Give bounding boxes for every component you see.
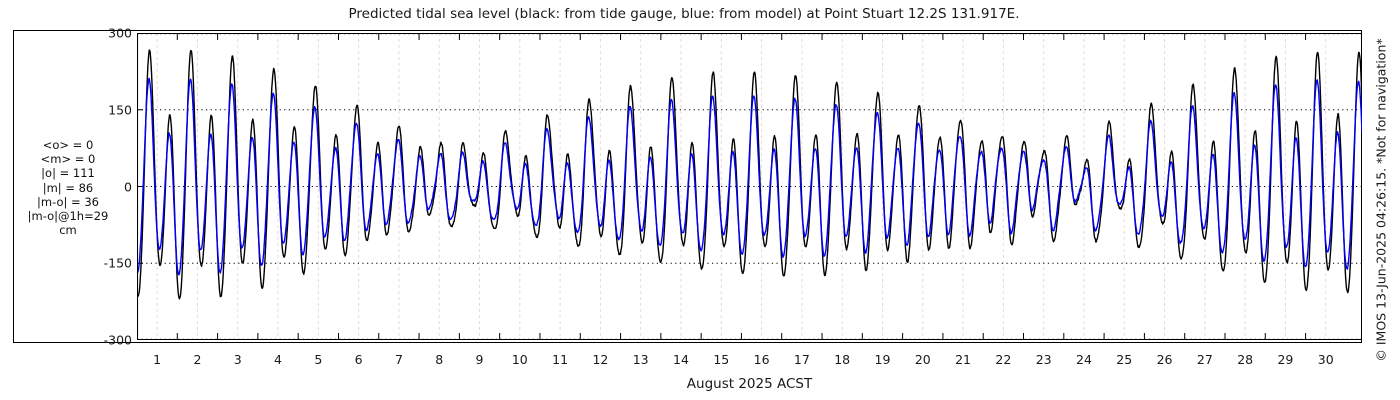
x-axis-tick-label: 27	[1197, 352, 1213, 367]
y-axis-tick-label: -300	[80, 333, 132, 348]
stat-mean-obs: <o> = 0	[8, 138, 128, 152]
stat-abs-diff-1h: |m-o|@1h=29	[8, 209, 128, 223]
x-axis-tick-label: 1	[153, 352, 161, 367]
page-title: Predicted tidal sea level (black: from t…	[0, 6, 1368, 22]
copyright-text: © IMOS 13-Jun-2025 04:26:15. *Not for na…	[1374, 38, 1389, 361]
x-axis-tick-label: 19	[875, 352, 891, 367]
plot-area	[137, 33, 1362, 340]
x-axis-title: August 2025 ACST	[137, 376, 1362, 392]
tide-plot-svg	[137, 33, 1362, 340]
stat-abs-diff: |m-o| = 36	[8, 195, 128, 209]
x-axis-tick-label: 7	[395, 352, 403, 367]
y-axis-tick-label: 0	[80, 179, 132, 194]
x-axis-tick-label: 30	[1318, 352, 1334, 367]
x-axis-tick-label: 10	[512, 352, 528, 367]
series-line-observed	[137, 50, 1362, 299]
x-axis-tick-label: 5	[314, 352, 322, 367]
x-axis-tick-label: 6	[355, 352, 363, 367]
copyright-notice: © IMOS 13-Jun-2025 04:26:15. *Not for na…	[1362, 0, 1400, 400]
y-axis-tick-label: 300	[80, 26, 132, 41]
x-axis-tick-label: 9	[476, 352, 484, 367]
x-axis-tick-label: 21	[955, 352, 971, 367]
tidal-chart-figure: Predicted tidal sea level (black: from t…	[0, 0, 1400, 400]
stat-mean-model: <m> = 0	[8, 152, 128, 166]
x-axis-tick-label: 14	[673, 352, 689, 367]
x-axis-tick-label: 25	[1116, 352, 1132, 367]
x-axis-tick-label: 4	[274, 352, 282, 367]
x-axis-tick-label: 15	[713, 352, 729, 367]
x-axis-tick-label: 20	[915, 352, 931, 367]
x-axis-tick-label: 18	[834, 352, 850, 367]
x-axis-tick-label: 22	[995, 352, 1011, 367]
x-axis-tick-label: 28	[1237, 352, 1253, 367]
x-axis-tick-label: 11	[552, 352, 568, 367]
x-axis-tick-label: 29	[1277, 352, 1293, 367]
x-axis-tick-label: 26	[1157, 352, 1173, 367]
x-axis-tick-label: 23	[1036, 352, 1052, 367]
x-axis-tick-label: 2	[193, 352, 201, 367]
x-axis-tick-label: 13	[633, 352, 649, 367]
x-axis-tick-label: 17	[794, 352, 810, 367]
x-axis-tick-label: 24	[1076, 352, 1092, 367]
x-axis-tick-label: 8	[435, 352, 443, 367]
y-axis-tick-label: 150	[80, 102, 132, 117]
x-axis-tick-label: 12	[592, 352, 608, 367]
x-axis-tick-label: 3	[234, 352, 242, 367]
stat-units: cm	[8, 223, 128, 237]
vertical-gridlines	[157, 33, 1326, 340]
y-axis-tick-label: -150	[80, 256, 132, 271]
x-axis-tick-label: 16	[754, 352, 770, 367]
